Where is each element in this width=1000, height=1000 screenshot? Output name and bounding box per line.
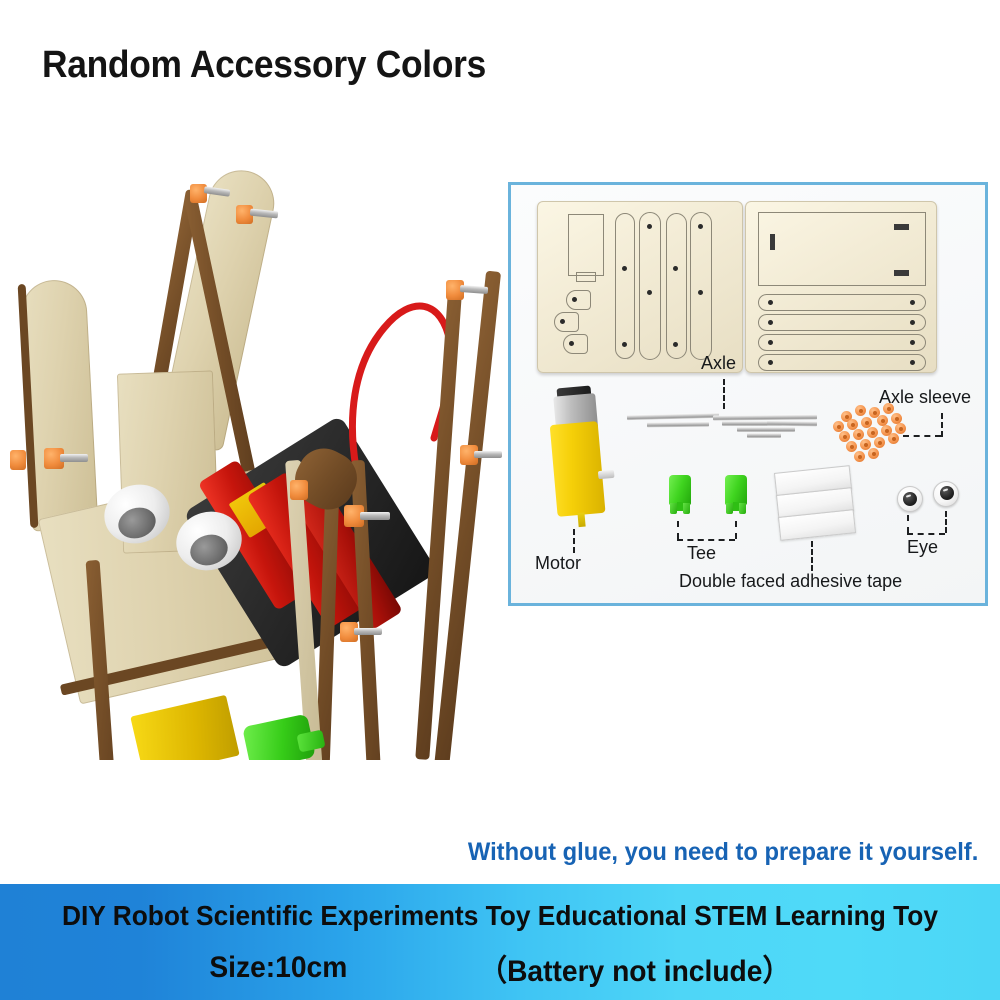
eye-group [897, 481, 963, 515]
bottom-banner: DIY Robot Scientific Experiments Toy Edu… [0, 884, 1000, 1000]
eye-part-right [933, 481, 959, 507]
cut-piece-leg-3 [666, 213, 687, 359]
page-title: Random Accessory Colors [42, 44, 486, 87]
cut-piece-cam-2 [554, 312, 579, 332]
cut-piece-strip-4 [758, 354, 926, 371]
motor-label: Motor [535, 553, 581, 574]
eye-label: Eye [907, 537, 938, 558]
axle-label: Axle [701, 353, 736, 374]
banner-product-title: DIY Robot Scientific Experiments Toy Edu… [30, 900, 970, 932]
tee-part-1 [669, 475, 691, 505]
tee-leader-right [735, 521, 737, 539]
eye-leader-right [945, 511, 947, 533]
axle-pin-3 [60, 454, 88, 462]
motor-gearbox [550, 421, 606, 517]
cut-piece-cam-1 [566, 290, 591, 310]
axle-sleeve-leader-v [941, 413, 943, 437]
tee-label: Tee [687, 543, 716, 564]
axle-sleeve-joint-6 [290, 480, 308, 500]
cut-piece-strip-1 [758, 294, 926, 311]
tape-label: Double faced adhesive tape [679, 571, 902, 592]
tape-group [773, 467, 859, 543]
tee-part-2 [725, 475, 747, 505]
axle-pin-9 [354, 628, 382, 635]
axle-group [627, 403, 817, 441]
cut-piece-strip-2 [758, 314, 926, 331]
slot-top-right [894, 224, 909, 230]
robot-motor [130, 695, 239, 760]
banner-specs-row: Size:10cm （Battery not include） [30, 946, 970, 990]
cut-piece-strip-3 [758, 334, 926, 351]
eye-leader-h [907, 533, 945, 535]
slot-left [770, 234, 775, 250]
cut-piece-leg-4 [690, 212, 712, 360]
plywood-sheet-left [537, 201, 743, 373]
eye-part-left [897, 486, 923, 512]
axle-sleeve-label: Axle sleeve [879, 387, 971, 408]
cut-piece-battery-box [568, 214, 604, 276]
cut-piece-leg-1 [615, 213, 635, 359]
slot-bottom-right [894, 270, 909, 276]
glue-notice: Without glue, you need to prepare it you… [468, 838, 978, 867]
cut-piece-leg-2 [639, 212, 661, 360]
axle-sleeve-joint-4 [10, 450, 26, 470]
axle-sleeve-group [833, 401, 917, 461]
axle-pin-8 [474, 451, 502, 458]
eye-leader-left [907, 515, 909, 533]
axle-pin-5 [360, 512, 390, 520]
tape-leader-line [811, 541, 813, 571]
cut-piece-battery-tab [576, 272, 596, 282]
tee-leader-left [677, 521, 679, 539]
product-listing-image: Random Accessory Colors [0, 0, 1000, 1000]
parts-breakdown-panel: Motor Axle [508, 182, 988, 606]
motor-leader-line [573, 529, 575, 553]
assembled-robot-photo [8, 160, 518, 760]
motor-axle-stub [598, 470, 615, 479]
axle-sleeve-leader-h [903, 435, 941, 437]
plywood-sheet-right [745, 201, 937, 373]
motor-shaft [577, 513, 585, 528]
tee-group [669, 475, 755, 521]
banner-battery-note: （Battery not include） [479, 946, 791, 990]
cut-piece-cam-3 [563, 334, 588, 354]
axle-leader-line [723, 379, 725, 409]
tee-leader-h [677, 539, 735, 541]
banner-size-label: Size:10cm [209, 951, 347, 985]
